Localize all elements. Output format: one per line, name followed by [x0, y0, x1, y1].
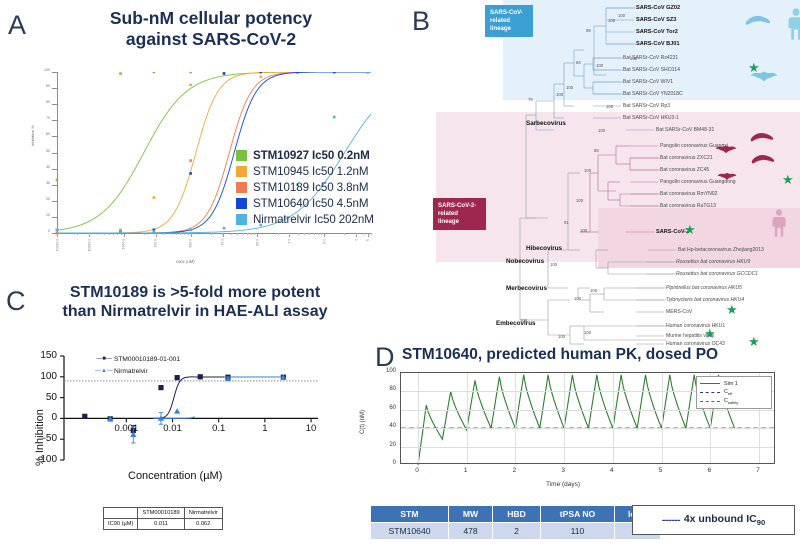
green-star-icon: ★	[726, 303, 738, 316]
bat-silhouette	[745, 62, 783, 90]
table-row-header: IC90 (µM)	[104, 519, 138, 530]
data-point	[158, 385, 163, 390]
sars-cov-lineage-box: SARS-CoV- related lineage	[485, 5, 533, 37]
tree-tip-label: Bat SARSr-CoV WIV1	[623, 79, 673, 85]
clade-label: Sarbecovirus	[526, 120, 566, 127]
legend-item: Nirmatrelvir Ic50 202nM	[236, 212, 374, 227]
bootstrap-value: 84	[576, 60, 581, 65]
table-row: IC90 (µM)0.0110.062	[104, 519, 223, 530]
table-cell: 2	[493, 523, 541, 540]
legend-label: STM10640 Ic50 4.5nM	[253, 197, 368, 210]
panel-a-title: Sub-nM cellular potencyagainst SARS-CoV-…	[46, 8, 376, 49]
legend-swatch	[236, 214, 247, 225]
y-tick-label: 100	[374, 368, 396, 374]
human-silhouette	[764, 200, 794, 246]
panel-a-legend: STM10927 Ic50 0.2nMSTM10945 Ic50 1.2nMST…	[236, 148, 374, 228]
panel-d-legend: Sim 1CeffCsafety	[696, 376, 772, 409]
tree-tip-label: SARS-CoV SZ3	[636, 17, 676, 23]
bootstrap-value: 100	[566, 85, 573, 90]
data-point	[153, 230, 156, 233]
legend-label: STM10927 Ic50 0.2nM	[253, 149, 370, 162]
table-column-header: STM	[371, 506, 449, 523]
table-corner-cell	[104, 508, 138, 519]
legend-item: —▲—Nirmatrelvir	[94, 365, 180, 377]
bootstrap-value: 100	[556, 92, 563, 97]
data-point	[333, 116, 336, 119]
bootstrap-value: 100	[584, 168, 591, 173]
sars-cov-2-lineage-box: SARS-CoV-2- related lineage	[433, 198, 486, 230]
bootstrap-value: 100	[618, 13, 625, 18]
data-point	[189, 228, 192, 231]
clade-label: Nobecovirus	[506, 258, 544, 265]
legend-label: Sim 1	[724, 381, 738, 387]
panel-a: A Sub-nM cellular potencyagainst SARS-Co…	[0, 0, 408, 278]
x-tick-label: 7	[748, 467, 768, 474]
bootstrap-value: 91	[564, 220, 569, 225]
legend-label: Nirmatrelvir Ic50 202nM	[253, 213, 374, 226]
legend-item: STM10640 Ic50 4.5nM	[236, 196, 374, 211]
panel-d-title: STM10640, predicted human PK, dosed PO	[402, 346, 794, 364]
table-column-header: HBD	[493, 506, 541, 523]
legend-swatch	[236, 198, 247, 209]
tree-tip-label: Human coronavirus HKU1	[666, 323, 725, 329]
clade-label: Merbecovirus	[506, 285, 547, 292]
table-column-header: tPSA NO	[541, 506, 615, 523]
data-point	[153, 196, 156, 199]
pangolin-silhouette	[745, 124, 779, 148]
bootstrap-value: 100	[550, 262, 557, 267]
phylogenetic-tree-branches	[408, 0, 800, 348]
y-tick-label: 60	[374, 405, 396, 411]
bootstrap-value: 100	[598, 128, 605, 133]
table-cell: 478	[449, 523, 493, 540]
x-tick-label: 5	[651, 467, 671, 474]
table-cell: 110	[541, 523, 615, 540]
bootstrap-value: 100	[574, 296, 581, 301]
x-tick-label: 4	[602, 467, 622, 474]
legend-label: STM10945 Ic50 1.2nM	[253, 165, 368, 178]
bootstrap-value: 100	[584, 330, 591, 335]
tree-tip-label: Bat coronavirus RaTG13	[660, 203, 716, 209]
bat-silhouette	[712, 138, 740, 160]
grid-line	[613, 373, 614, 463]
clade-label: Embecovirus	[496, 320, 536, 327]
y-tick-label: 80	[374, 386, 396, 392]
data-point	[198, 374, 203, 379]
data-point	[153, 72, 156, 73]
grid-line	[467, 373, 468, 463]
table-cell: 0.011	[138, 519, 184, 530]
y-tick-label: 20	[374, 442, 396, 448]
human-silhouette	[779, 0, 800, 48]
x-tick-label: 2	[504, 467, 524, 474]
bootstrap-value: 88	[594, 148, 599, 153]
grid-line	[401, 428, 774, 429]
data-point	[189, 72, 192, 73]
legend-label: Nirmatrelvir	[114, 368, 148, 375]
grid-line	[662, 373, 663, 463]
data-point	[223, 227, 226, 230]
legend-marker: —■—	[94, 356, 114, 362]
tree-tip-label: Bat coronavirus ZXC21	[660, 155, 713, 161]
legend-line	[700, 383, 720, 384]
tree-tip-label: Bat SARSr-CoV HKU3-1	[623, 115, 679, 121]
x-tick-label: 6	[699, 467, 719, 474]
legend-item: STM10945 Ic50 1.2nM	[236, 164, 374, 179]
green-star-icon: ★	[704, 327, 716, 340]
legend-item: STM10189 Ic50 3.8nM	[236, 180, 374, 195]
data-point	[56, 179, 59, 182]
bat-silhouette	[714, 166, 740, 186]
legend-item: Sim 1	[700, 379, 768, 388]
data-point	[56, 228, 59, 231]
x-tick-label: 0	[407, 467, 427, 474]
panel-d: D STM10640, predicted human PK, dosed PO…	[370, 340, 800, 552]
bootstrap-value: 100	[630, 56, 637, 61]
pangolin-silhouette	[746, 146, 780, 170]
bootstrap-value: 100	[590, 288, 597, 293]
table-header-row: STM00010189Nirmatrelvir	[104, 508, 223, 519]
legend-label: STM00010189-01-001	[114, 356, 180, 363]
data-point	[259, 76, 262, 79]
ic90-note-text: 4x unbound IC90	[684, 513, 765, 527]
data-point	[119, 72, 122, 75]
tree-tip-label: Rousettus bat coronavirus HKU9	[676, 259, 750, 265]
tree-tip-label: Bat coronavirus RmYN02	[660, 191, 717, 197]
legend-item: Ceff	[700, 388, 768, 397]
bootstrap-value: 100	[558, 334, 565, 339]
data-point	[259, 72, 262, 73]
green-star-icon: ★	[684, 223, 696, 236]
tree-tip-label: Bat SARSr-CoV SHC014	[623, 67, 680, 73]
grid-line	[564, 373, 565, 463]
bootstrap-value: 100	[580, 228, 587, 233]
panel-d-letter: D	[375, 344, 395, 371]
tree-tip-label: Bat Hp-betacoronavirus Zhejiang2013	[678, 247, 764, 253]
x-tick-label: 3	[553, 467, 573, 474]
panel-c-ic90-table: STM00010189NirmatrelvirIC90 (µM)0.0110.0…	[103, 507, 223, 530]
table-column-header: Nirmatrelvir	[184, 508, 222, 519]
data-point	[189, 159, 192, 162]
clade-label: Hibecovirus	[526, 245, 562, 252]
legend-line	[700, 392, 720, 393]
y-tick-label: 0	[374, 460, 396, 466]
bootstrap-value: 99	[586, 28, 591, 33]
tree-tip-label: Pipistrellus bat coronavirus HKU5	[666, 285, 742, 291]
table-cell: 0.062	[184, 519, 222, 530]
tree-tip-label: Rousettus bat coronavirus GCCDC1	[676, 271, 758, 277]
tree-tip-label: Bat coronavirus ZC45	[660, 167, 709, 173]
panel-b: B SARS-CoV- related lineage SARS-CoV-2- …	[408, 0, 800, 348]
legend-swatch	[236, 166, 247, 177]
grid-line	[401, 410, 774, 411]
tree-tip-label: SARS-CoV BJ01	[636, 41, 680, 47]
data-point	[189, 84, 192, 87]
bootstrap-value: 75	[528, 97, 533, 102]
data-point	[189, 172, 192, 175]
legend-line	[700, 401, 720, 402]
bootstrap-value: 100	[608, 18, 615, 23]
panel-c-chart: % Inhibition Concentration (µM) -100-500…	[36, 348, 326, 483]
table-column-header: STM00010189	[138, 508, 184, 519]
data-point	[82, 414, 87, 419]
panel-d-y-axis-label: C(t) (nM)	[360, 410, 366, 434]
data-point	[333, 72, 336, 73]
legend-label: Csafety	[724, 398, 738, 405]
grid-line	[418, 373, 419, 463]
tree-tip-label: Bat SARSr-CoV YN2018C	[623, 91, 683, 97]
panel-c-letter: C	[6, 288, 26, 315]
legend-swatch	[236, 150, 247, 161]
green-star-icon: ★	[782, 173, 794, 186]
legend-swatch	[236, 182, 247, 193]
table-row: STM1064047821103.2	[371, 523, 661, 540]
x-tick-label: 1	[456, 467, 476, 474]
panel-d-chart: 020406080100C(t) (nM) 01234567 Time (day…	[366, 372, 792, 482]
pangolin-silhouette	[739, 6, 777, 32]
legend-item: —■—STM00010189-01-001	[94, 353, 180, 365]
bootstrap-value: 100	[520, 318, 527, 323]
legend-label: STM10189 Ic50 3.8nM	[253, 181, 368, 194]
legend-item: STM10927 Ic50 0.2nM	[236, 148, 374, 163]
panel-d-ic90-note: ------4x unbound IC90	[632, 505, 795, 535]
tree-tip-label: MERS-CoV	[666, 309, 692, 315]
data-point	[119, 230, 122, 233]
bootstrap-value: 100	[606, 104, 613, 109]
panel-d-x-axis-label: Time (days)	[546, 481, 580, 488]
data-point	[366, 72, 369, 73]
panel-c-curves	[36, 348, 326, 483]
tree-tip-label: Bat SARSr-CoV BM48-31	[656, 127, 714, 133]
legend-label: Ceff	[724, 389, 732, 396]
bootstrap-value: 100	[596, 63, 603, 68]
table-cell: STM10640	[371, 523, 449, 540]
data-point	[174, 408, 180, 413]
grid-line	[401, 447, 774, 448]
data-point	[296, 72, 299, 73]
panel-a-letter: A	[8, 12, 26, 39]
table-column-header: MW	[449, 506, 493, 523]
dashed-line-icon: ------	[662, 514, 680, 526]
legend-marker: —▲—	[94, 368, 114, 374]
tree-tip-label: SARS-CoV Tor2	[636, 29, 678, 35]
y-tick-label: 40	[374, 423, 396, 429]
panel-c-title: STM10189 is >5-fold more potentthan Nirm…	[30, 284, 360, 322]
grid-line	[515, 373, 516, 463]
legend-item: Csafety	[700, 397, 768, 406]
panel-c-legend: —■—STM00010189-01-001—▲—Nirmatrelvir	[94, 353, 180, 377]
panel-d-properties-table: STMMWHBDtPSA NOlogD STM1064047821103.2	[370, 505, 661, 540]
tree-tip-label: SARS-CoV GZ02	[636, 5, 680, 11]
data-point	[223, 72, 226, 75]
tree-tip-label: Bat SARSr-CoV Rp3	[623, 103, 670, 109]
x-axis-label: conc (uM)	[176, 259, 195, 264]
sim-1-curve	[418, 375, 735, 465]
bootstrap-value: 100	[576, 198, 583, 203]
